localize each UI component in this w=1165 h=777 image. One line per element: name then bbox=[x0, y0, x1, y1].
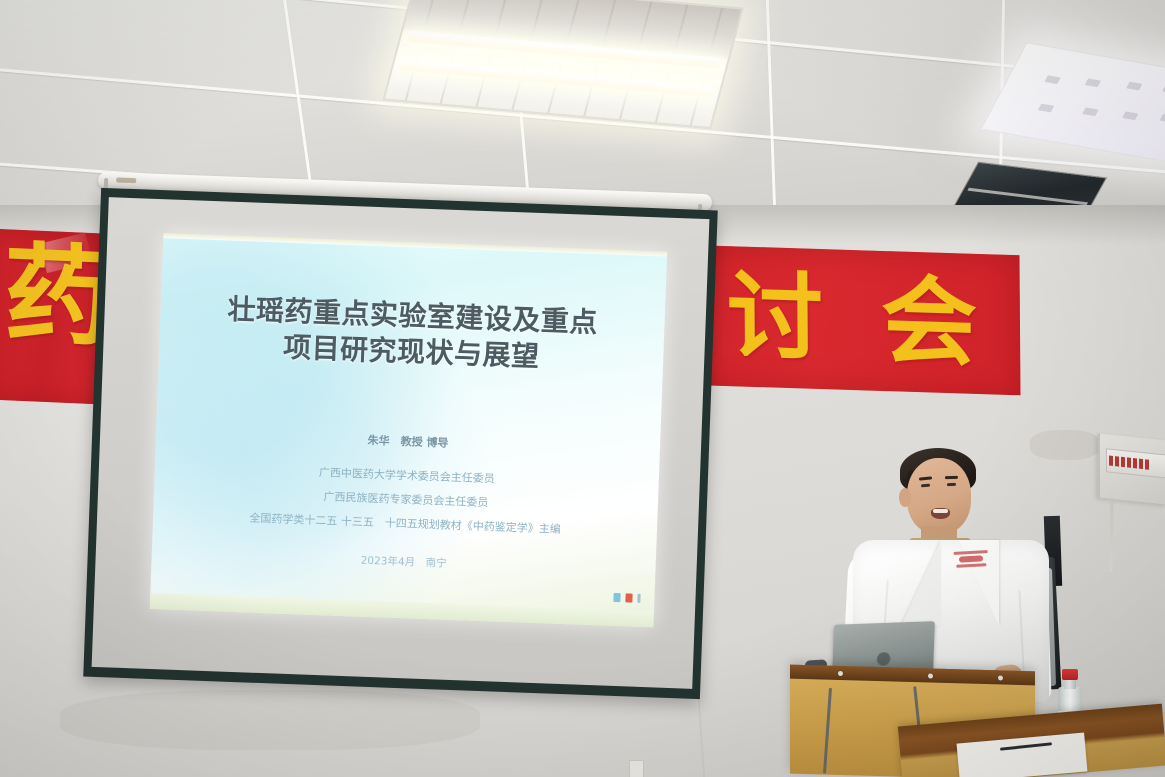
banner-character: 讨 bbox=[727, 268, 824, 367]
presenter-eye bbox=[921, 484, 930, 488]
podium-screw bbox=[838, 671, 843, 676]
slide-icon-blue bbox=[613, 593, 620, 602]
lab-coat-chest-logo bbox=[949, 547, 992, 571]
projection-screen: 壮瑶药重点实验室建设及重点 项目研究现状与展望 朱华 教授 博导 广西中医药大学… bbox=[83, 188, 718, 699]
presenter-eye bbox=[947, 483, 956, 486]
presenter-head bbox=[907, 458, 971, 534]
conference-room-photograph: 药 讨 会 壮瑶药重点实验室建设及重点 项目研究现状与展望 朱华 教授 博导 bbox=[0, 0, 1165, 777]
red-banner-left: 药 bbox=[0, 229, 100, 405]
presenter-mouth bbox=[931, 508, 950, 519]
electrical-breaker-panel bbox=[1098, 433, 1165, 504]
ceiling-grid-line bbox=[765, 0, 778, 232]
presenter-eyebrow bbox=[945, 476, 958, 479]
podium-screw bbox=[928, 673, 933, 678]
wall-power-outlet bbox=[629, 760, 644, 777]
bottle-cap bbox=[1062, 669, 1078, 680]
podium-cable bbox=[823, 688, 832, 774]
bottle-neck bbox=[1064, 679, 1076, 689]
red-banner-right: 讨 会 bbox=[684, 245, 1021, 396]
wall-blemish bbox=[60, 690, 480, 750]
podium-screw bbox=[998, 675, 1003, 680]
banner-character: 会 bbox=[881, 273, 978, 372]
breaker-switch-row bbox=[1106, 448, 1165, 479]
slide-icon-red bbox=[625, 593, 632, 602]
presenter-ear bbox=[899, 488, 911, 507]
laptop-brand-logo-icon bbox=[877, 652, 891, 667]
slide-footer-icons bbox=[613, 593, 640, 603]
screen-surface: 壮瑶药重点实验室建设及重点 项目研究现状与展望 朱华 教授 博导 广西中医药大学… bbox=[92, 197, 710, 689]
lab-coat-lapel bbox=[901, 540, 941, 626]
slide-icon-grey bbox=[637, 594, 640, 603]
projected-slide: 壮瑶药重点实验室建设及重点 项目研究现状与展望 朱华 教授 博导 广西中医药大学… bbox=[150, 233, 667, 627]
